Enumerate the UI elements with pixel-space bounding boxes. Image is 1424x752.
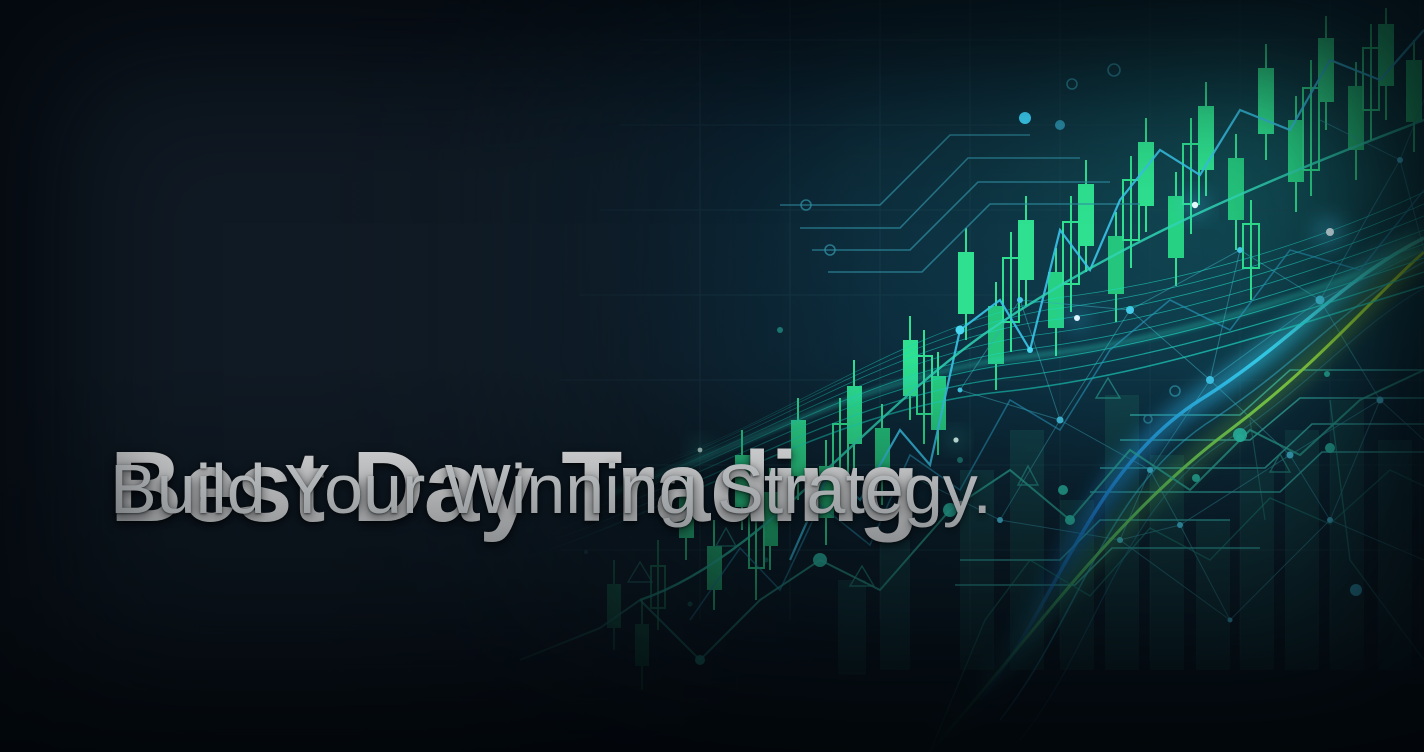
background-bottom-fade bbox=[0, 0, 1424, 752]
hero-banner: Best Day Trading Tools2026 Build Your Wi… bbox=[0, 0, 1424, 752]
